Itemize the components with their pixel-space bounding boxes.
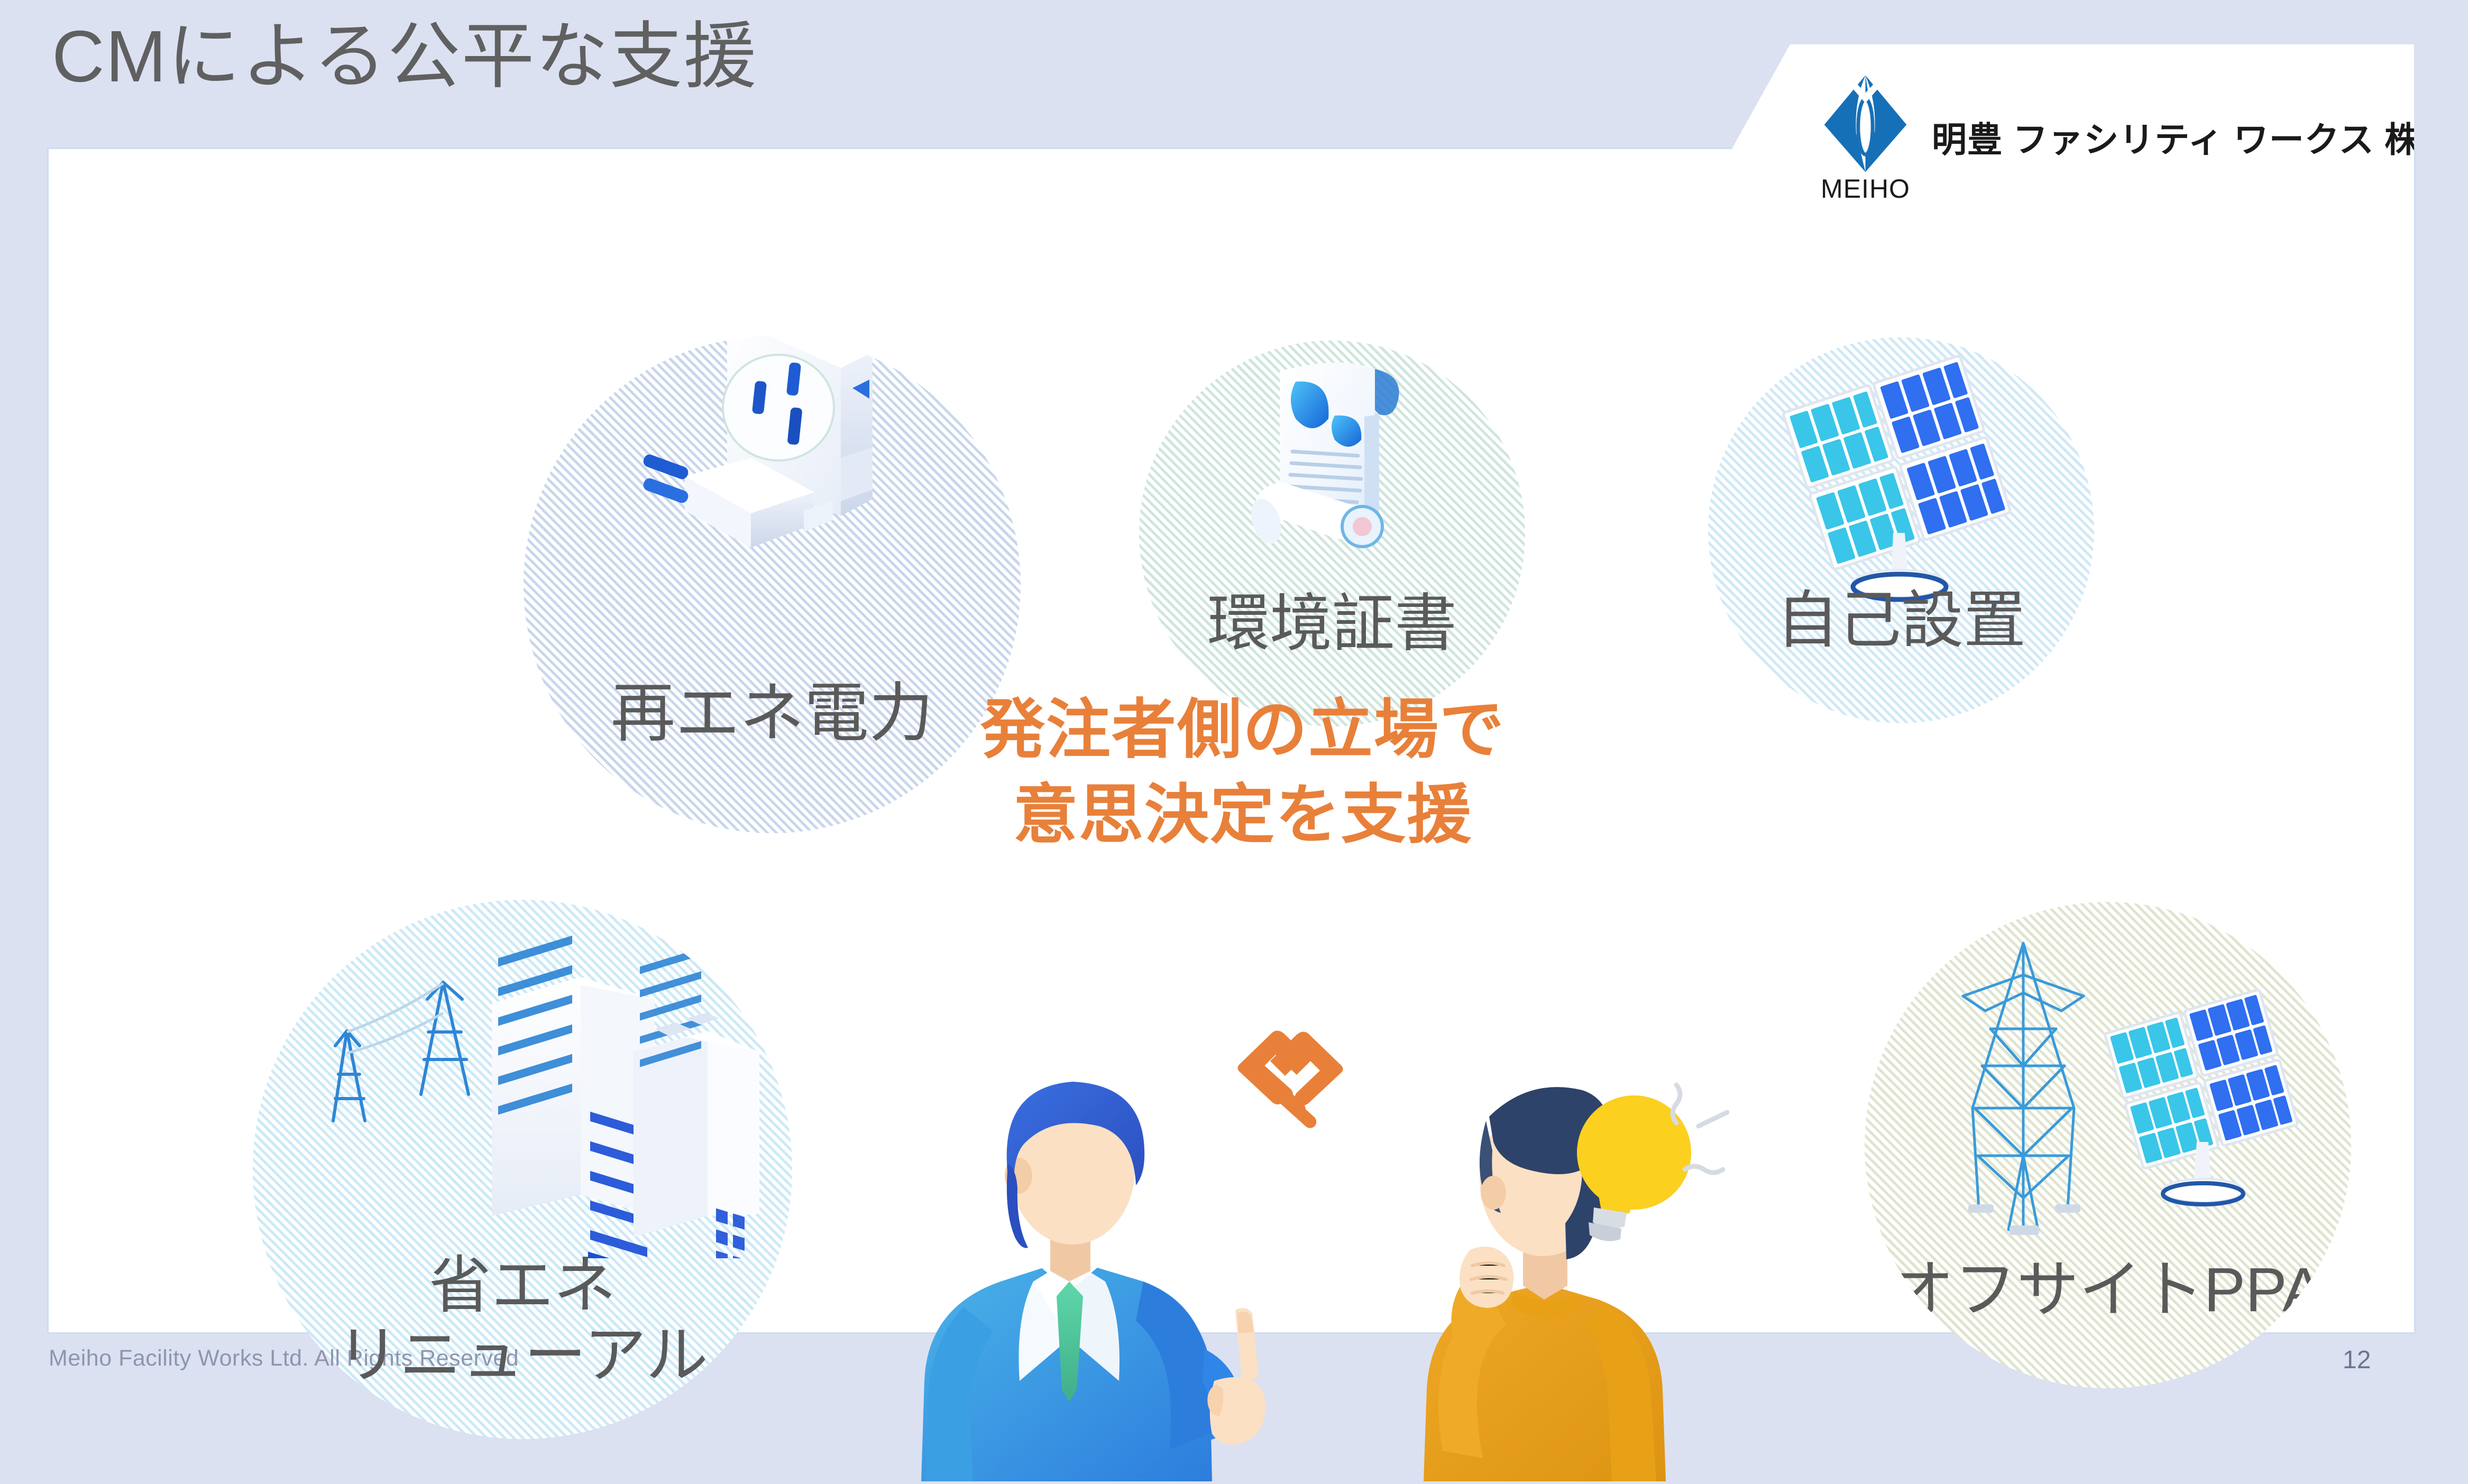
category-label-reene: 再エネ電力 [611, 677, 933, 833]
solar-panel-icon [1766, 347, 2041, 622]
certificate-scroll-icon [1233, 351, 1455, 615]
meiho-logo-mark: MEIHO [1819, 71, 1912, 203]
category-label-jiko: 自己設置 [1776, 586, 2026, 723]
category-label-ppa: オフサイトPPA [1892, 1255, 2324, 1388]
power-outlet-and-plug-icon [592, 336, 962, 669]
buildings-and-pylon-icon [285, 920, 760, 1258]
category-circle-kankyo[interactable]: 環境証書 [1139, 340, 1525, 726]
category-label-shoene: 省エネ リニューアル [337, 1251, 708, 1439]
page-number: 12 [2343, 1345, 2371, 1375]
slide-content-panel: 再エネ電力 [49, 149, 2414, 1332]
transmission-tower-and-solar-icon [1911, 934, 2329, 1251]
handshake-icon [1237, 1024, 1343, 1130]
page-title: CMによる公平な支援 [52, 20, 757, 93]
category-circle-ppa[interactable]: オフサイトPPA [1865, 902, 2351, 1388]
company-logo-banner: MEIHO 明豊 ファシリティ ワークス 株式会社 [1687, 44, 2414, 229]
logo-wordmark: MEIHO [1821, 176, 1910, 202]
category-circle-jiko[interactable]: 自己設置 [1708, 337, 2094, 723]
lightbulb-icon [1577, 1085, 1727, 1241]
headline-text: 発注者側の立場で 意思決定を支援 [899, 687, 1586, 858]
company-name: 明豊 ファシリティ ワークス 株式会社 [1932, 112, 2468, 162]
